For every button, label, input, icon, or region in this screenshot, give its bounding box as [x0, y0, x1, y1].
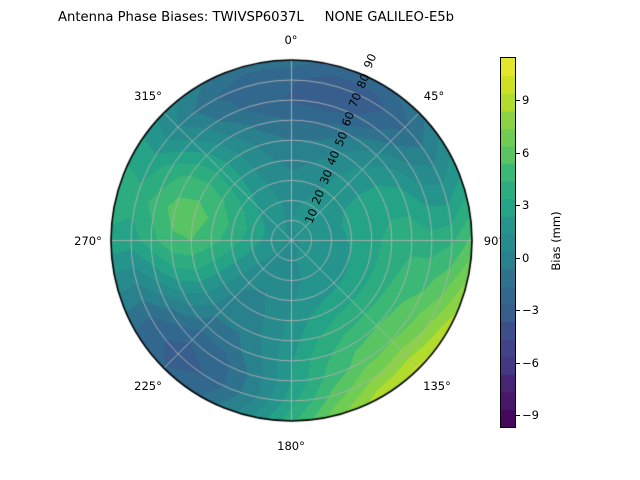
angular-tick-0deg: 0° — [284, 33, 297, 47]
angular-tick-225deg: 225° — [134, 379, 162, 393]
colorbar-tick-mark — [516, 153, 520, 154]
colorbar-tick-mark — [516, 258, 520, 259]
angular-tick-315deg: 315° — [134, 89, 162, 103]
colorbar: 9630−3−6−9 — [500, 57, 514, 426]
colorbar-tick-label: 9 — [522, 93, 529, 107]
angular-tick-135deg: 135° — [423, 379, 451, 393]
figure-canvas: Antenna Phase Biases: TWIVSP6037L NONE G… — [0, 0, 640, 480]
angular-tick-180deg: 180° — [277, 439, 305, 453]
colorbar-tick-mark — [516, 363, 520, 364]
colorbar-axis-label: Bias (mm) — [549, 211, 563, 270]
colorbar-tick-label: −3 — [522, 303, 539, 317]
colorbar-tick-label: −9 — [522, 408, 539, 422]
colorbar-tick-mark — [516, 100, 520, 101]
colorbar-tick-mark — [516, 310, 520, 311]
colorbar-gradient — [500, 57, 516, 428]
colorbar-tick-label: −6 — [522, 356, 539, 370]
colorbar-tick-mark — [516, 205, 520, 206]
colorbar-tick-mark — [516, 415, 520, 416]
colorbar-tick-label: 0 — [522, 251, 529, 265]
angular-tick-270deg: 270° — [74, 234, 102, 248]
colorbar-tick-label: 6 — [522, 146, 529, 160]
angular-tick-45deg: 45° — [424, 89, 444, 103]
colorbar-tick-label: 3 — [522, 198, 529, 212]
